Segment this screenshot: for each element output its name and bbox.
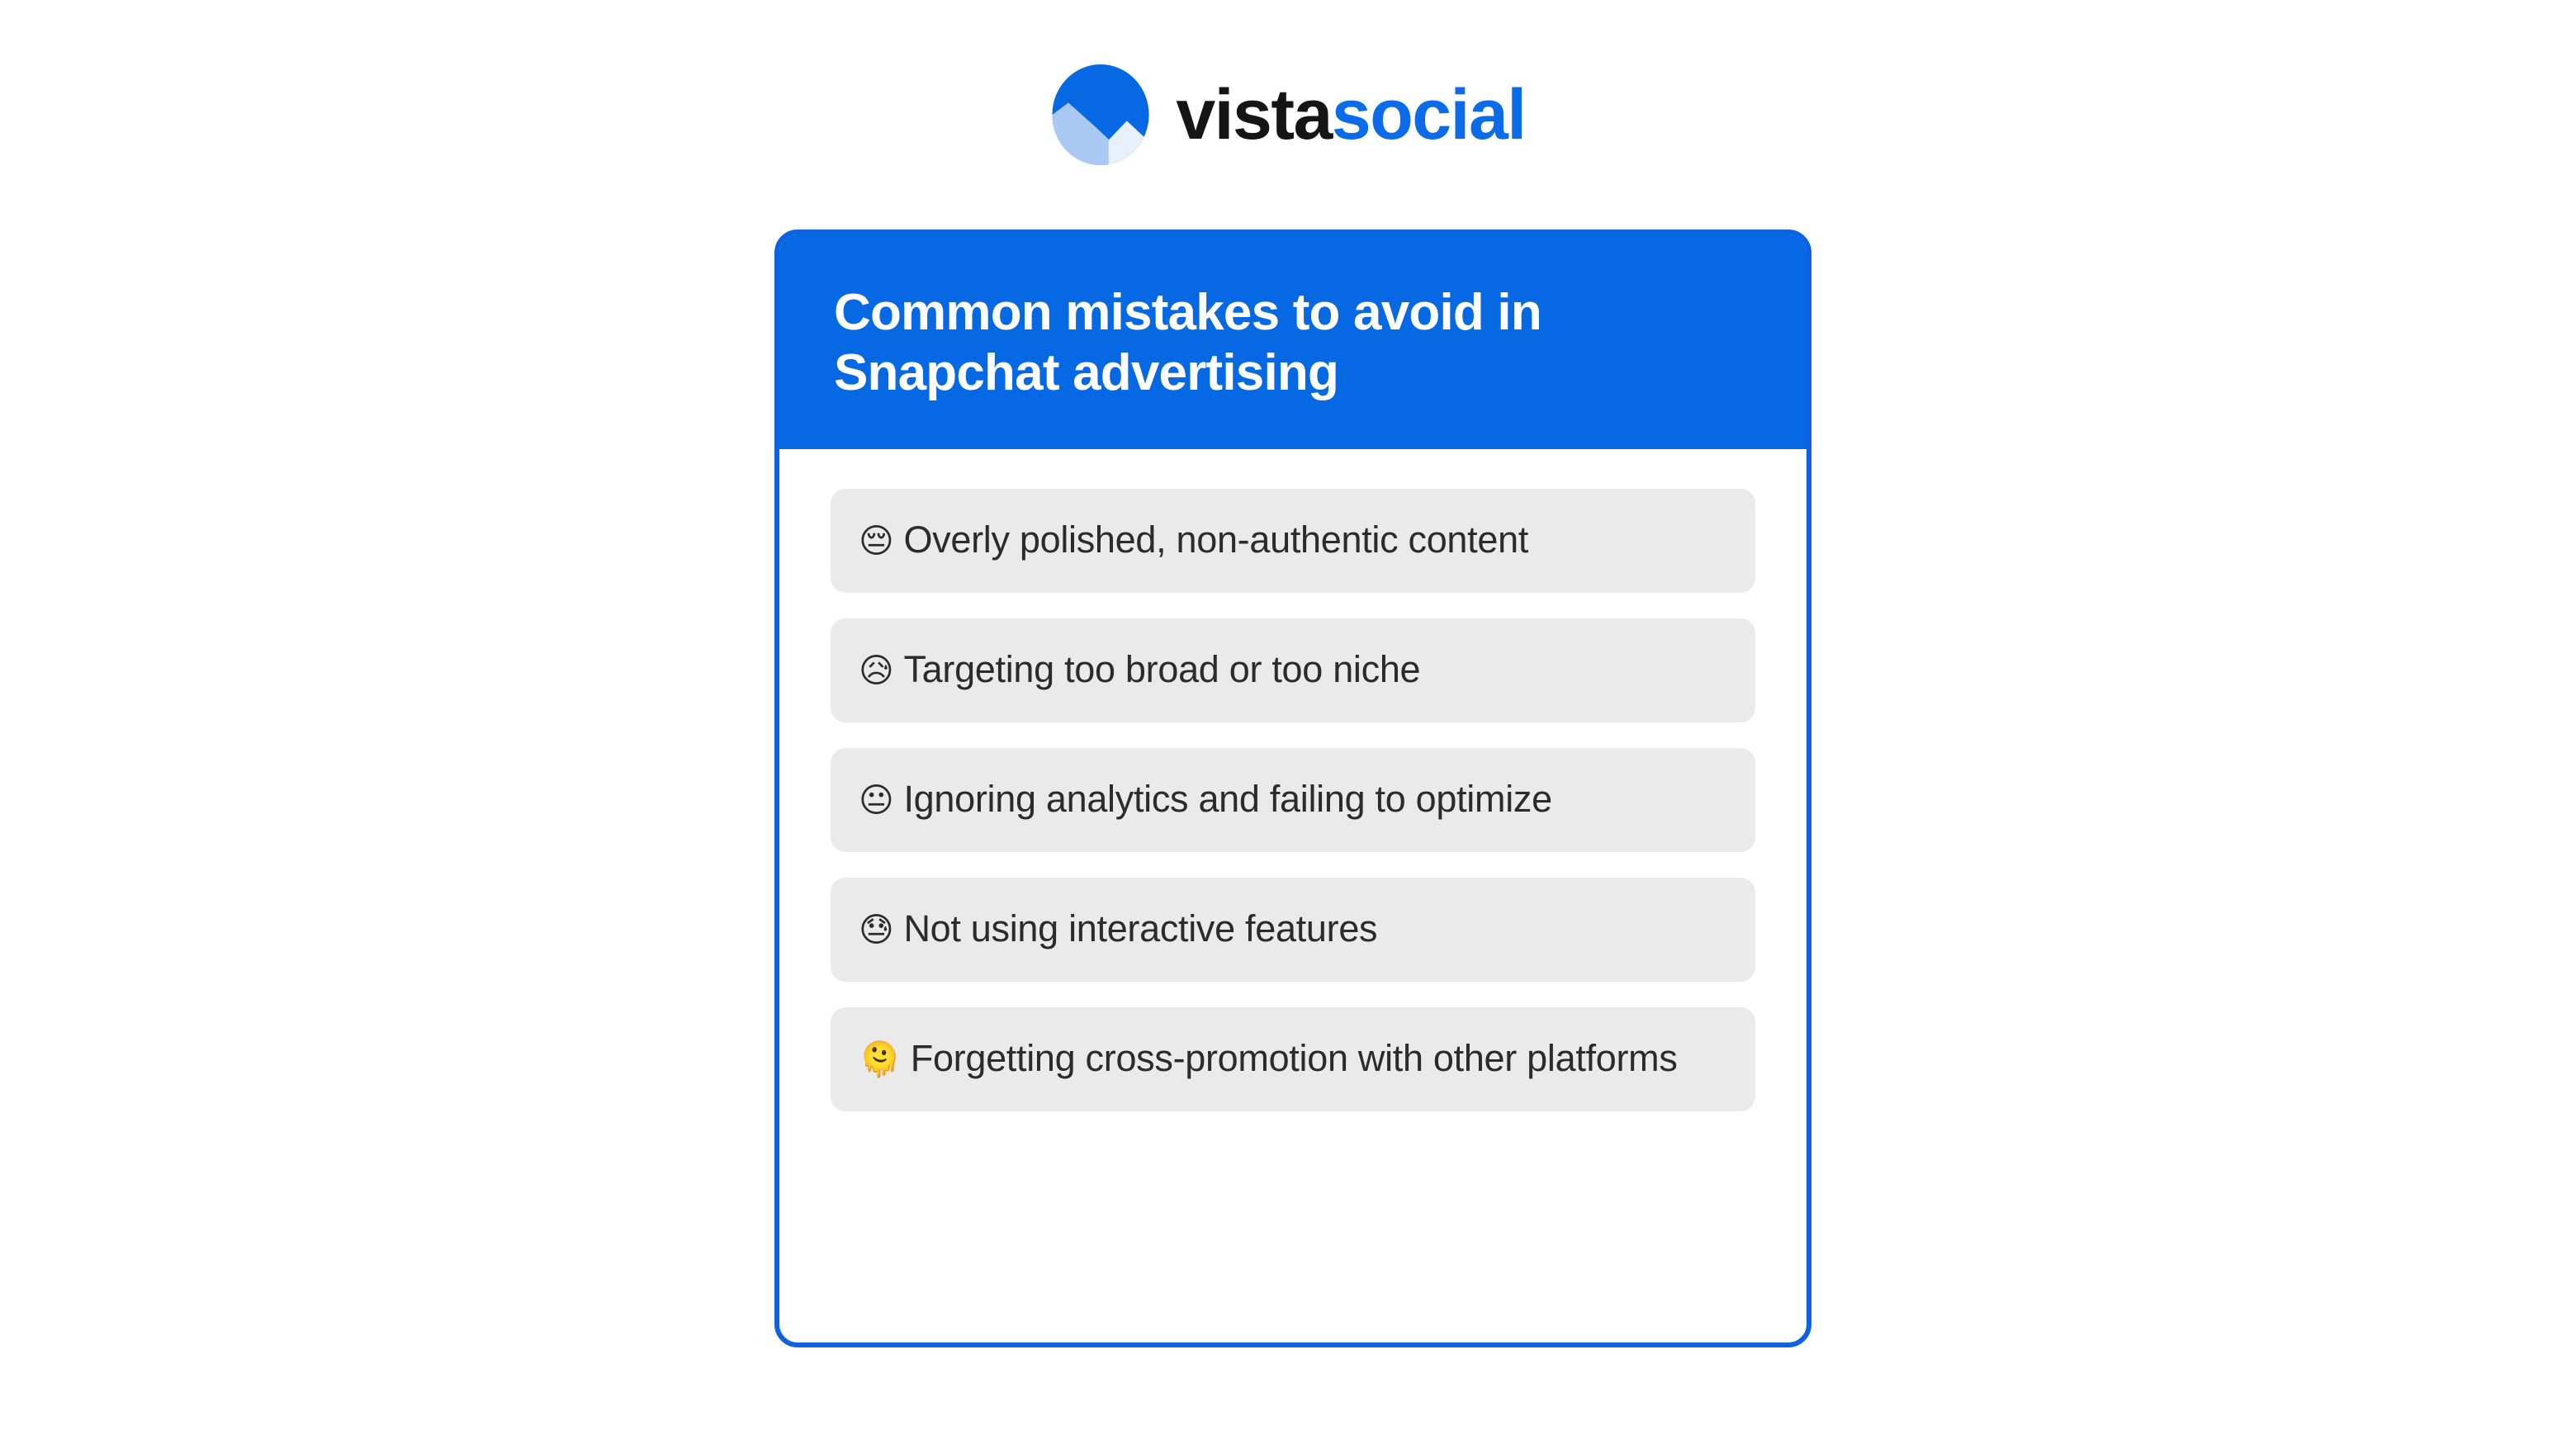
card-header: Common mistakes to avoid in Snapchat adv… [779, 234, 1807, 449]
list-item[interactable]: 😐Ignoring analytics and failing to optim… [831, 748, 1755, 852]
list-item-text: 😓Not using interactive features [859, 902, 1727, 955]
list-item-label: Overly polished, non-authentic content [903, 519, 1528, 561]
melting-face-emoji: 🫠 [859, 1039, 901, 1079]
page-canvas: vistasocial Common mistakes to avoid in … [0, 0, 2576, 1449]
list-item[interactable]: 😔Overly polished, non-authentic content [831, 489, 1755, 593]
pensive-face-emoji: 😔 [859, 521, 893, 561]
card-title: Common mistakes to avoid in Snapchat adv… [834, 282, 1709, 403]
list-item-label: Targeting too broad or too niche [903, 648, 1420, 690]
card-body: 😔Overly polished, non-authentic content … [779, 449, 1807, 1160]
neutral-face-emoji: 😐 [859, 780, 893, 820]
list-item-text: 😥Targeting too broad or too niche [859, 643, 1727, 696]
list-item-label: Not using interactive features [903, 907, 1377, 949]
brand-logo: vistasocial [0, 64, 2576, 165]
list-item[interactable]: 🫠Forgetting cross-promotion with other p… [831, 1007, 1755, 1111]
list-item-label: Forgetting cross-promotion with other pl… [911, 1037, 1678, 1079]
brand-name-vista: vista [1176, 79, 1332, 150]
list-item[interactable]: 😥Targeting too broad or too niche [831, 618, 1755, 722]
vista-social-mountain-circle-logo-icon [1050, 64, 1151, 165]
sad-but-relieved-face-emoji: 😥 [859, 651, 893, 690]
mistakes-list: 😔Overly polished, non-authentic content … [831, 489, 1755, 1110]
list-item-text: 🫠Forgetting cross-promotion with other p… [859, 1032, 1727, 1085]
list-item[interactable]: 😓Not using interactive features [831, 878, 1755, 982]
list-item-text: 😔Overly polished, non-authentic content [859, 514, 1727, 566]
brand-wordmark: vistasocial [1176, 79, 1525, 150]
brand-name-social: social [1332, 79, 1526, 150]
list-item-label: Ignoring analytics and failing to optimi… [903, 778, 1551, 820]
mistakes-card: Common mistakes to avoid in Snapchat adv… [774, 230, 1811, 1347]
downcast-face-with-sweat-emoji: 😓 [859, 910, 893, 949]
list-item-text: 😐Ignoring analytics and failing to optim… [859, 773, 1727, 826]
